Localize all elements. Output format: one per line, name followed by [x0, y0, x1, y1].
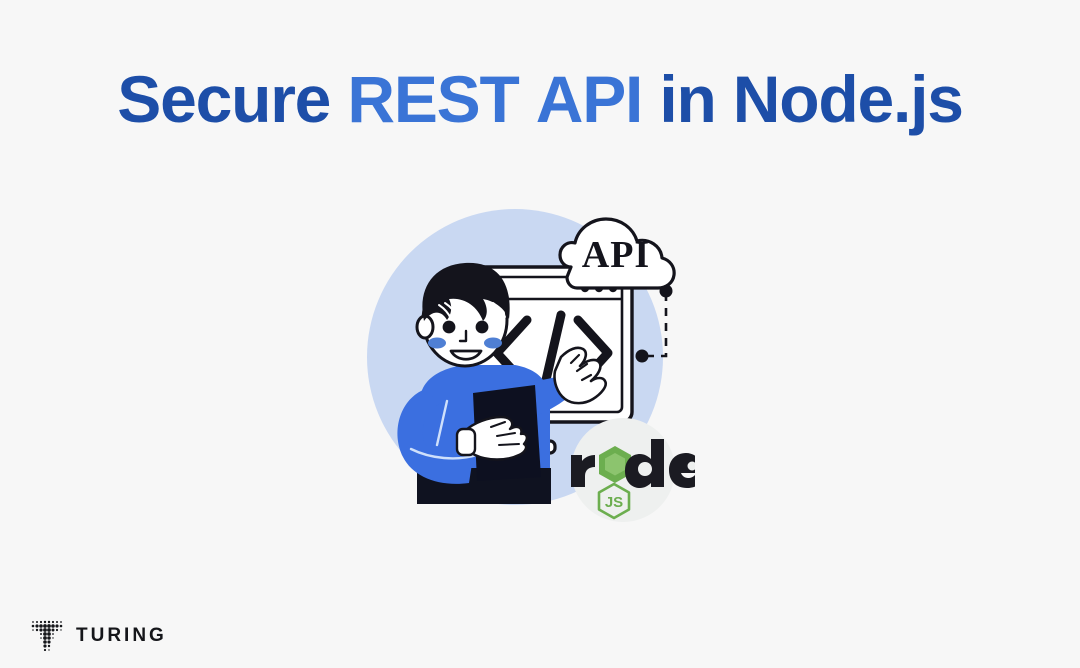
title-word-rest: REST — [347, 62, 518, 136]
nodejs-logo: JS — [571, 418, 695, 522]
title-word-nodejs: Node.js — [733, 62, 963, 136]
person-blush-left — [428, 338, 446, 349]
nodejs-js-badge-label: JS — [605, 494, 623, 511]
page-title-container: SecureRESTAPIinNode.js — [0, 66, 1080, 132]
title-word-api: API — [536, 62, 642, 136]
person-eye-right — [476, 321, 489, 334]
title-word-secure: Secure — [117, 62, 330, 136]
slide-canvas: SecureRESTAPIinNode.js — [0, 0, 1080, 668]
api-cloud-label: API — [582, 234, 650, 276]
turing-halftone-t-icon — [30, 619, 64, 651]
turing-logo[interactable]: TURING — [30, 618, 167, 652]
title-word-in: in — [659, 62, 715, 136]
person-eye-left — [443, 321, 456, 334]
connector-dot-left — [636, 350, 649, 363]
person-blush-right — [484, 338, 502, 349]
page-title: SecureRESTAPIinNode.js — [0, 66, 1080, 132]
turing-wordmark: TURING — [76, 626, 167, 645]
person-cuff — [457, 429, 475, 455]
hero-illustration: API JS — [365, 205, 695, 535]
